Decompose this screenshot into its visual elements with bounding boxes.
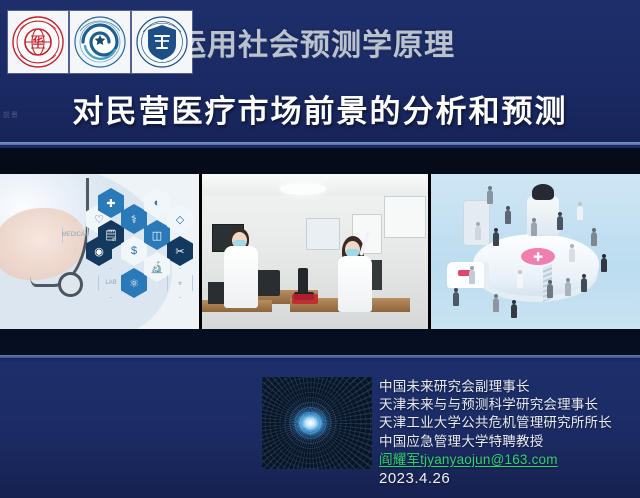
credential-line-1: 中国未来研究会副理事长 (379, 378, 637, 396)
presentation-slide: 运用社会预测学原理 华 (0, 0, 640, 498)
isometric-hospital-illustration: ✚ (431, 174, 640, 329)
speaker-credentials: 中国未来研究会副理事长 天津未来与与预测科学研究会理事长 天津工业大学公共危机管… (379, 378, 637, 488)
svg-text:华: 华 (33, 35, 44, 49)
credential-line-2: 天津未来与与预测科学研究会理事长 (379, 396, 637, 414)
laboratory-technicians-photo (199, 174, 431, 329)
tianjin-polytechnic-university-logo (132, 11, 192, 73)
tianjin-future-forecasting-science-society-logo (70, 11, 130, 73)
presentation-date: 2023.4.26 (379, 470, 637, 488)
credential-line-4: 中国应急管理大学特聘教授 (379, 433, 637, 451)
speaker-email-link[interactable]: 阎耀军tjyanyaojun@163.com (379, 451, 637, 469)
header-subtitle: 运用社会预测学原理 (176, 20, 616, 64)
slide-main-title: 对民营医疗市场前景的分析和预测 (0, 86, 640, 131)
photo-strip: ♡ MEDICAL ✚ 🗒 ⚕ $ ◉ ◐ ◫ ◇ ✂ LAB ⚛ 🔬 ☣ (0, 174, 640, 329)
china-future-research-society-logo: 华 (8, 11, 68, 73)
credential-line-3: 天津工业大学公共危机管理研究所所长 (379, 414, 637, 432)
binary-data-tunnel-image (262, 377, 372, 469)
doctor-medical-icons-photo: ♡ MEDICAL ✚ 🗒 ⚕ $ ◉ ◐ ◫ ◇ ✂ LAB ⚛ 🔬 ☣ (0, 174, 199, 329)
organization-logos: 华 (8, 11, 192, 73)
